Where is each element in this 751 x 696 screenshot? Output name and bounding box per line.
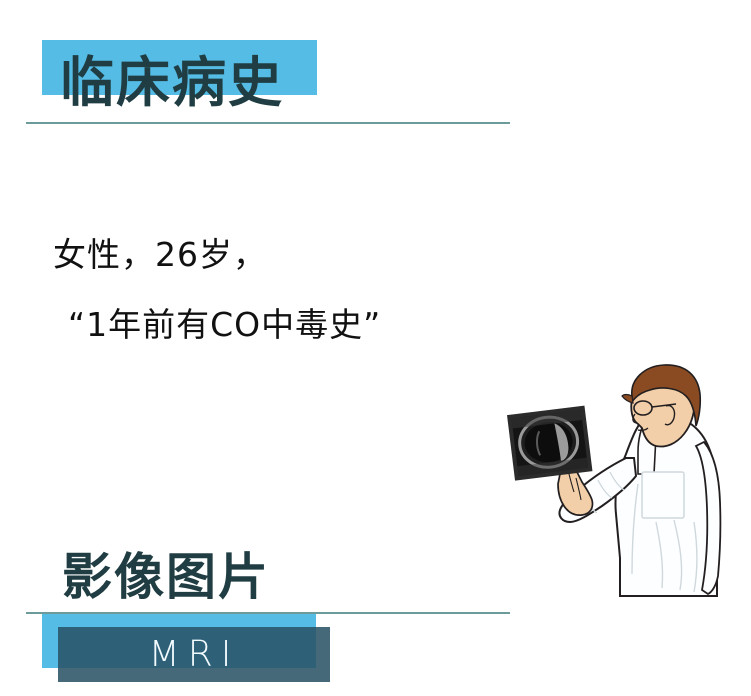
doctor-reading-mri-film-illustration (498, 362, 734, 636)
history-text-line-2: “1年前有CO中毒史” (68, 298, 381, 346)
history-section-title: 临床病史 (60, 56, 284, 110)
slide-canvas: 临床病史 女性，26岁， “1年前有CO中毒史” (0, 0, 751, 696)
mri-film (507, 406, 592, 481)
imaging-section-title: 影像图片 (62, 552, 270, 602)
history-text-line-1: 女性，26岁， (53, 228, 267, 276)
history-divider-rule (26, 122, 510, 124)
coat-pocket (642, 472, 684, 518)
hair-tuft (622, 395, 633, 404)
mri-badge-label: MRI (58, 627, 330, 682)
